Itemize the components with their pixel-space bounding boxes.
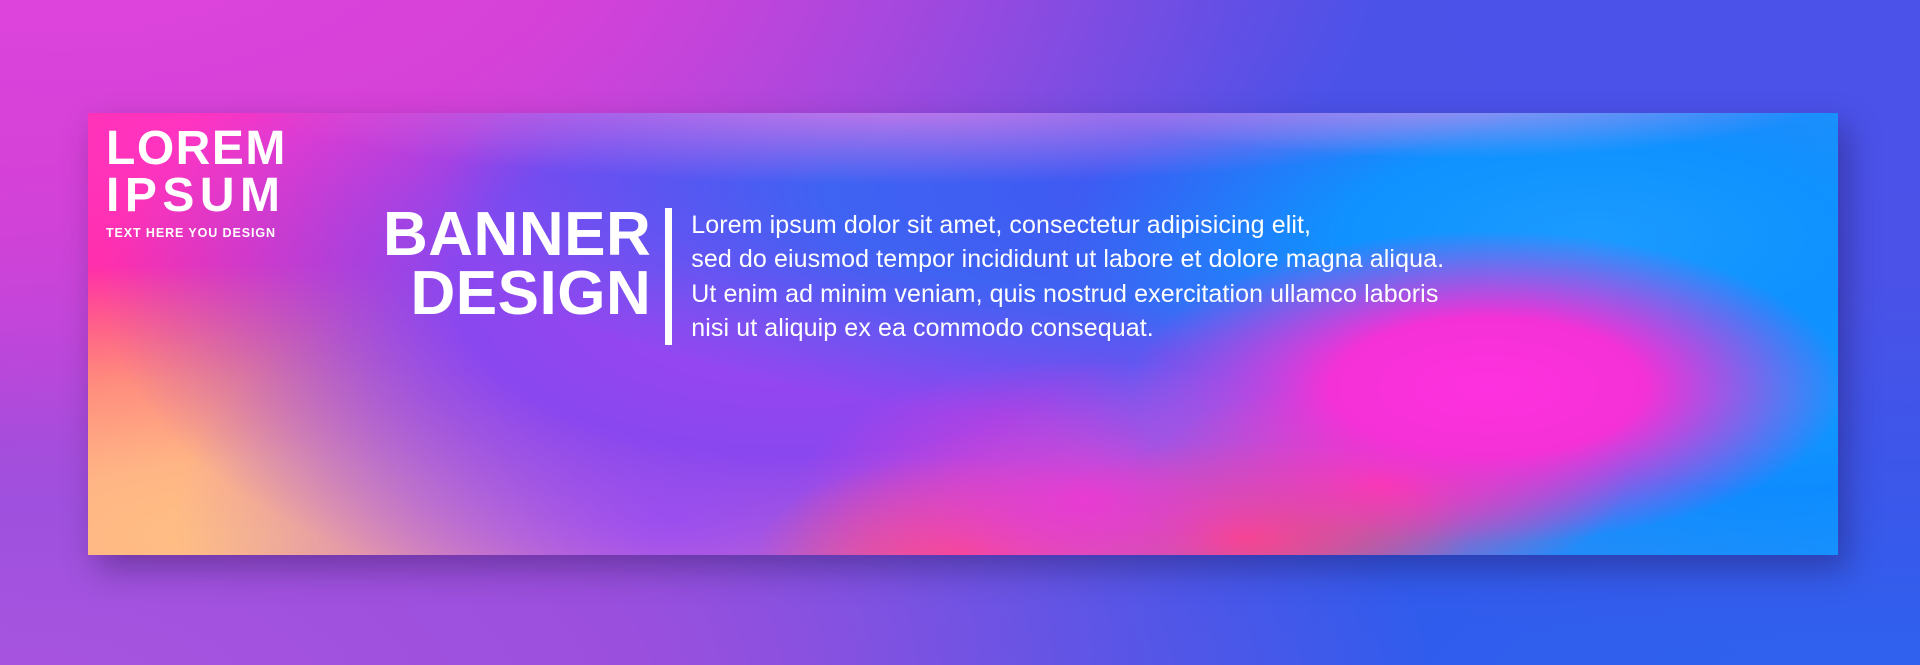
paragraph-line-three: Ut enim ad minim veniam, quis nostrud ex…	[691, 277, 1444, 311]
banner-content: LOREM IPSUM TEXT HERE YOU DESIGN BANNER …	[88, 113, 1838, 555]
paragraph-line-four: nisi ut aliquip ex ea commodo consequat.	[691, 311, 1444, 345]
banner-artwork-canvas: LOREM IPSUM TEXT HERE YOU DESIGN BANNER …	[0, 0, 1920, 665]
body-paragraph: Lorem ipsum dolor sit amet, consectetur …	[672, 208, 1444, 345]
headline: BANNER DESIGN	[383, 206, 665, 324]
logo-line-two: IPSUM	[106, 172, 287, 219]
banner-copy-row: BANNER DESIGN Lorem ipsum dolor sit amet…	[383, 206, 1444, 345]
paragraph-line-two: sed do eiusmod tempor incididunt ut labo…	[691, 242, 1444, 276]
banner-card: LOREM IPSUM TEXT HERE YOU DESIGN BANNER …	[88, 113, 1838, 555]
logo-tagline: TEXT HERE YOU DESIGN	[106, 226, 287, 240]
logo-line-one: LOREM	[106, 125, 287, 172]
brand-logo: LOREM IPSUM TEXT HERE YOU DESIGN	[106, 125, 287, 240]
vertical-divider-rule	[665, 208, 672, 345]
headline-line-one: BANNER	[383, 206, 651, 265]
headline-line-two: DESIGN	[383, 265, 651, 324]
paragraph-line-one: Lorem ipsum dolor sit amet, consectetur …	[691, 208, 1444, 242]
